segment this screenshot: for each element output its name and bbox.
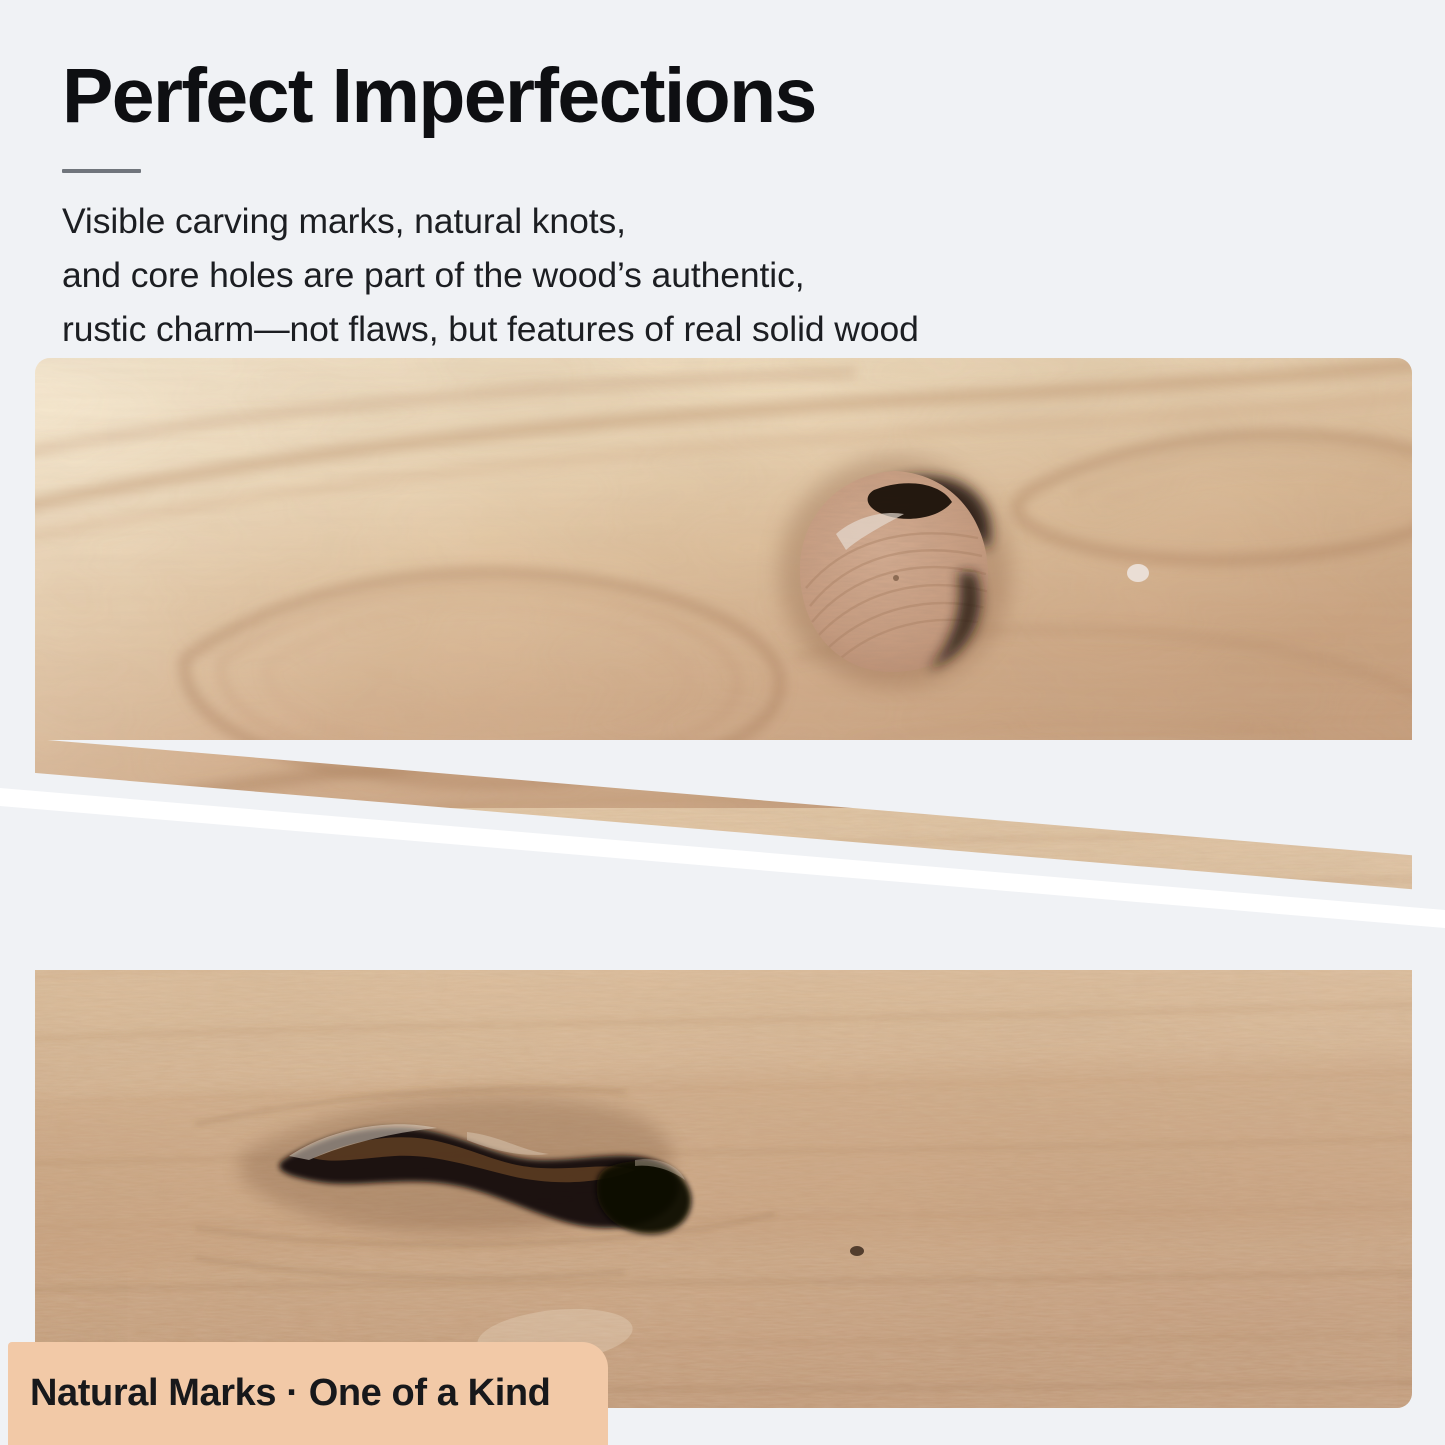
header-block: Perfect Imperfections Visible carving ma… (62, 58, 1382, 357)
infographic-page: Perfect Imperfections Visible carving ma… (0, 0, 1445, 1445)
subtitle-line-3: rustic charm—not flaws, but features of … (62, 303, 1382, 357)
knot-pinhole (893, 575, 899, 581)
status-badge: Natural Marks · One of a Kind (8, 1342, 608, 1445)
title-divider-rule (62, 169, 141, 173)
photo-natural-crack (35, 808, 1412, 1408)
photo-bottom-svg (35, 808, 1412, 1408)
core-hole-knot (779, 456, 1011, 688)
page-title: Perfect Imperfections (62, 58, 1382, 135)
wood-pinhole (850, 1246, 864, 1256)
badge-label: Natural Marks · One of a Kind (30, 1372, 551, 1415)
wood-fleck (1127, 564, 1149, 582)
subtitle-line-1: Visible carving marks, natural knots, (62, 195, 1382, 249)
subtitle-line-2: and core holes are part of the wood’s au… (62, 249, 1382, 303)
subtitle-text: Visible carving marks, natural knots, an… (62, 195, 1382, 357)
